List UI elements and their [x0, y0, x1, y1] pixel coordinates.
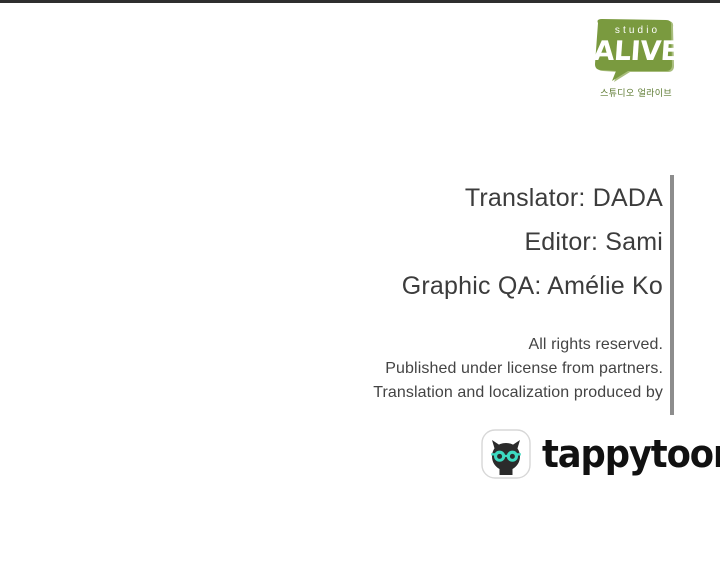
studio-word: studio — [592, 25, 680, 36]
studio-alive-logo: studio ALIVE 스튜디오 얼라이브 — [592, 18, 680, 110]
credit-line-editor: Editor: Sami — [233, 220, 663, 264]
page-root: studio ALIVE 스튜디오 얼라이브 Translator: DADA … — [0, 0, 720, 579]
credit-line-translator: Translator: DADA — [233, 176, 663, 220]
legal-notice-block: All rights reserved. Published under lic… — [193, 333, 663, 405]
tappytoon-logo: tappytoon — [481, 428, 720, 480]
speech-bubble-icon: studio ALIVE — [592, 18, 680, 84]
legal-line-producer: Translation and localization produced by — [193, 381, 663, 405]
tappytoon-wordmark: tappytoon — [542, 434, 720, 474]
credit-line-graphic-qa: Graphic QA: Amélie Ko — [233, 264, 663, 308]
studio-alive-korean-subtitle: 스튜디오 얼라이브 — [592, 88, 680, 100]
alive-word: ALIVE — [591, 37, 681, 67]
credits-divider-line — [670, 175, 674, 415]
tappytoon-cat-icon — [481, 429, 531, 479]
legal-line-rights: All rights reserved. — [193, 333, 663, 357]
legal-line-license: Published under license from partners. — [193, 357, 663, 381]
top-edge-rule — [0, 0, 720, 3]
credits-block: Translator: DADA Editor: Sami Graphic QA… — [233, 176, 663, 308]
